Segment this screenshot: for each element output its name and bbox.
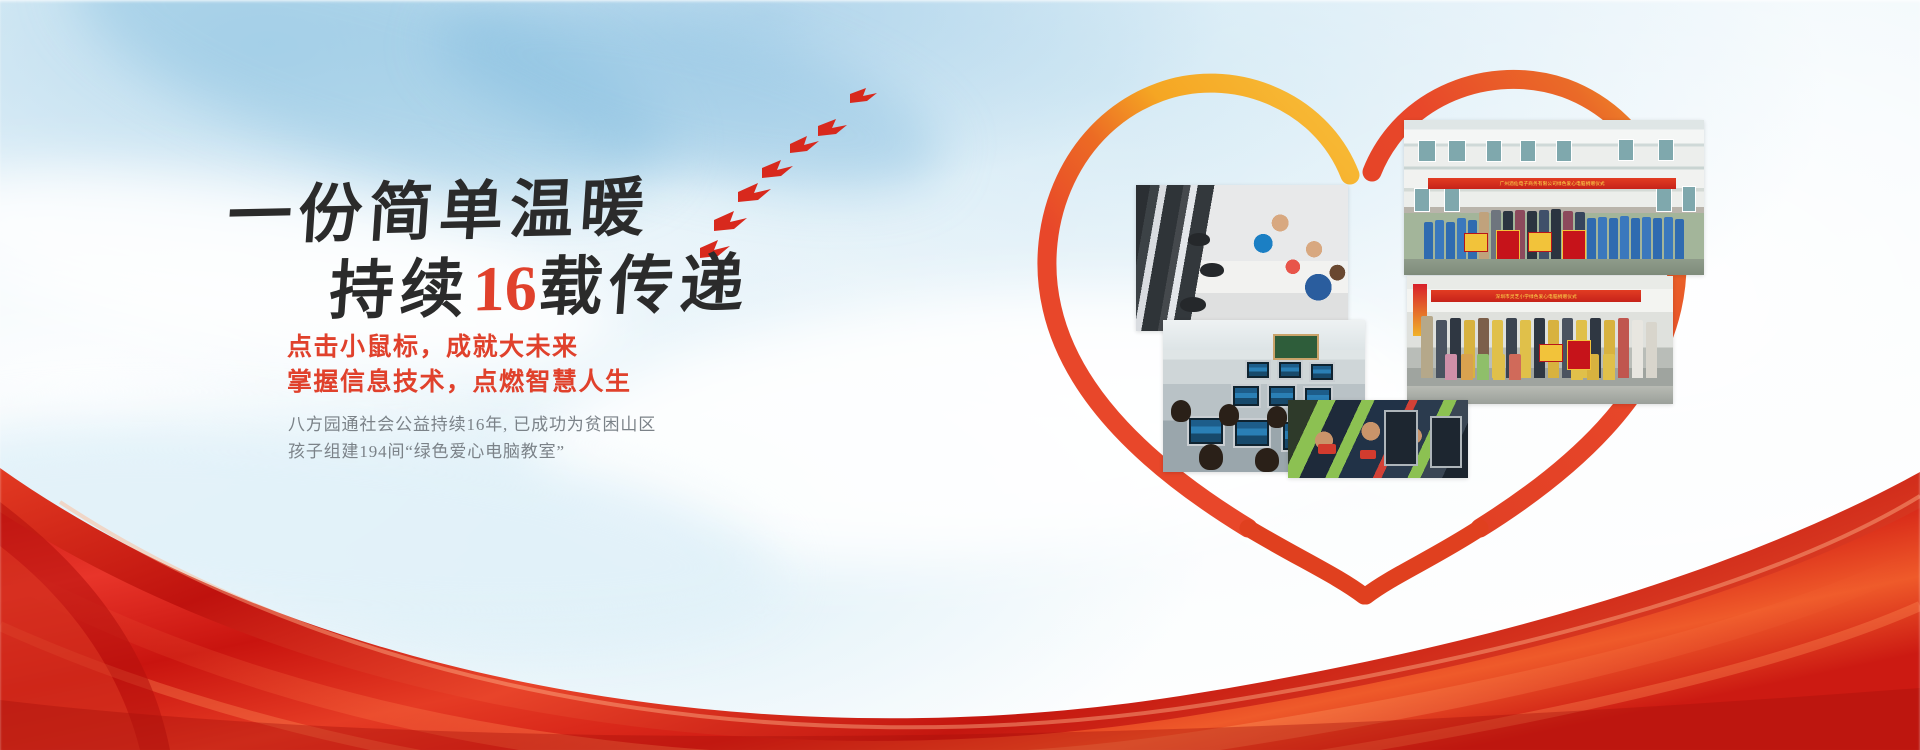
photo-lab-row [1136, 185, 1348, 331]
photo-school-group: 广州酒仙电子商务有限公司绿色爱心电脑捐赠仪式 [1404, 120, 1704, 275]
body-line-1: 八方园通社会公益持续16年, 已成功为贫困山区 [288, 410, 656, 435]
headline-line-2-post: 载传递 [536, 249, 752, 324]
charity-banner: 广州酒仙电子商务有限公司绿色爱心电脑捐赠仪式 [0, 0, 1920, 750]
headline-line-2-pre: 持续 [327, 254, 473, 327]
photo-yellow-group: 深圳市灵芝小学绿色爱心电脑捐赠仪式 [1407, 276, 1673, 404]
photo-banner-text: 深圳市灵芝小学绿色爱心电脑捐赠仪式 [1431, 290, 1641, 302]
red-silk-ribbon-icon [0, 450, 1920, 750]
years-count: 16 [470, 251, 539, 326]
subtitle-line-1: 点击小鼠标，成就大未来 [287, 327, 579, 363]
subtitle-line-2: 掌握信息技术，点燃智慧人生 [287, 362, 632, 398]
photo-banner-text: 广州酒仙电子商务有限公司绿色爱心电脑捐赠仪式 [1428, 178, 1676, 189]
headline-line-2: 持续16载传递 [327, 233, 754, 332]
